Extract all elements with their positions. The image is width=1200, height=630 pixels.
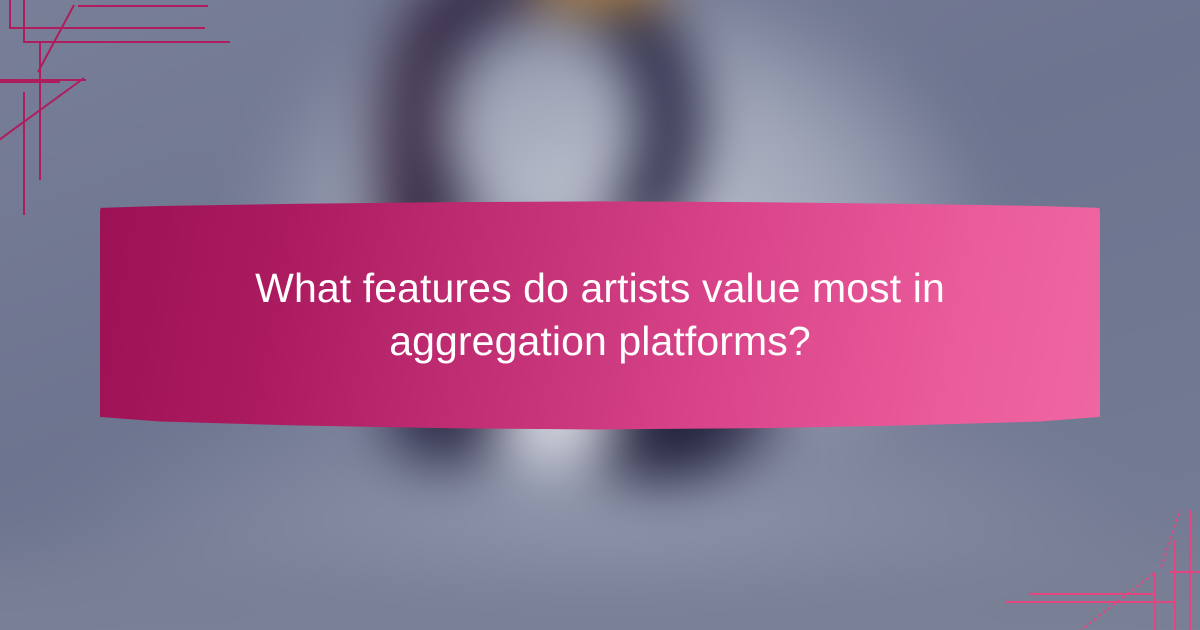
headline-container: What features do artists value most in a… bbox=[100, 205, 1100, 425]
page-title: What features do artists value most in a… bbox=[160, 262, 1040, 369]
background-surface bbox=[0, 522, 1200, 630]
social-share-card: What features do artists value most in a… bbox=[0, 0, 1200, 630]
headphones-headband-pad bbox=[536, 0, 663, 7]
